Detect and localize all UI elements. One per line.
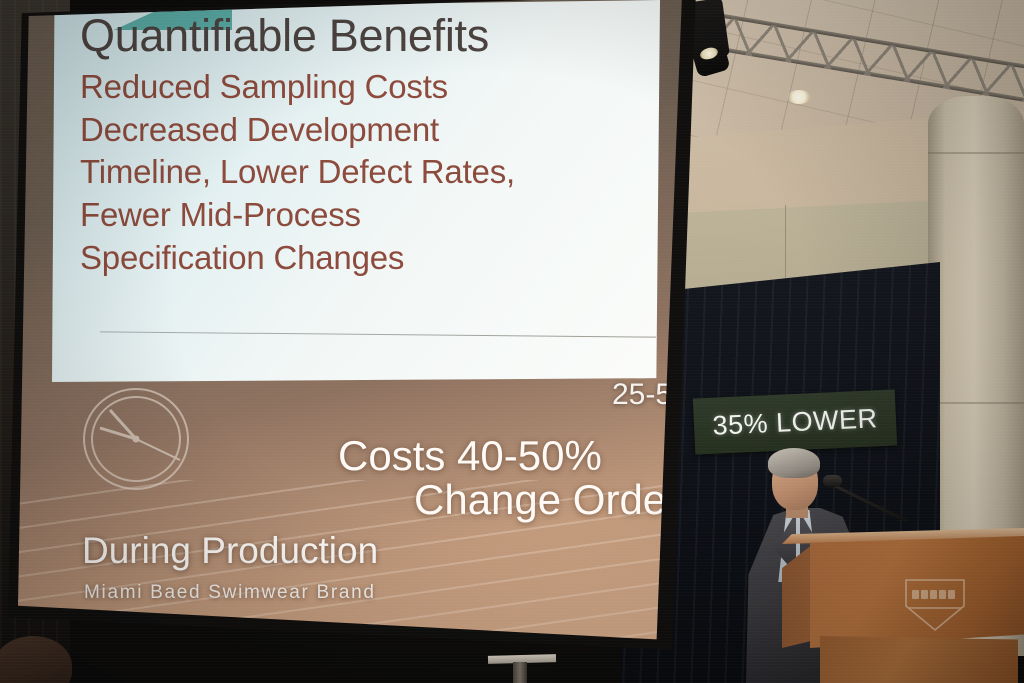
presentation-slide: Quantifiable Benefits Reduced Sampling C… xyxy=(18,0,686,642)
speaker-hair xyxy=(768,448,820,478)
projection-screen: Quantifiable Benefits Reduced Sampling C… xyxy=(18,0,686,642)
slide-big-line-1: Costs 40-50% xyxy=(338,432,602,480)
podium-base xyxy=(820,636,1018,683)
conference-photo-scene: 35% LOWER Quantifiable Benefits Reduced … xyxy=(0,0,1024,683)
slide-card-inner: Quantifiable Benefits Reduced Sampling C… xyxy=(80,12,640,280)
wall-banner: 35% LOWER xyxy=(693,389,897,454)
slide-big-line-2: Change Orders xyxy=(414,476,686,524)
slide-body-line: Decreased Development xyxy=(80,109,640,152)
slide-content-card: Quantifiable Benefits Reduced Sampling C… xyxy=(52,0,660,382)
slide-body-line: Reduced Sampling Costs xyxy=(80,66,640,109)
slide-divider-rule xyxy=(100,331,656,337)
slide-body-line: Specification Changes xyxy=(80,237,640,280)
slide-body-line: Fewer Mid-Process xyxy=(80,194,640,237)
wall-banner-text: 35% LOWER xyxy=(712,403,878,441)
microphone-arm xyxy=(831,483,908,523)
slide-body-line: Timeline, Lower Defect Rates, xyxy=(80,151,640,194)
column-band xyxy=(928,402,1024,404)
microphone xyxy=(822,475,914,533)
screen-support-pole xyxy=(513,662,527,683)
column-band xyxy=(928,152,1024,154)
slide-brand-line: Miami Baed Swimwear Brand xyxy=(84,582,376,604)
podium-crest-icon xyxy=(904,578,966,632)
slide-sub-head: During Production xyxy=(82,530,378,572)
slide-title: Quantifiable Benefits xyxy=(80,12,640,60)
podium xyxy=(782,528,1024,683)
slide-stat-left: 25-5 xyxy=(612,378,672,412)
downlight-icon xyxy=(787,90,811,104)
microphone-head-icon xyxy=(823,475,842,487)
clock-icon xyxy=(80,384,192,492)
